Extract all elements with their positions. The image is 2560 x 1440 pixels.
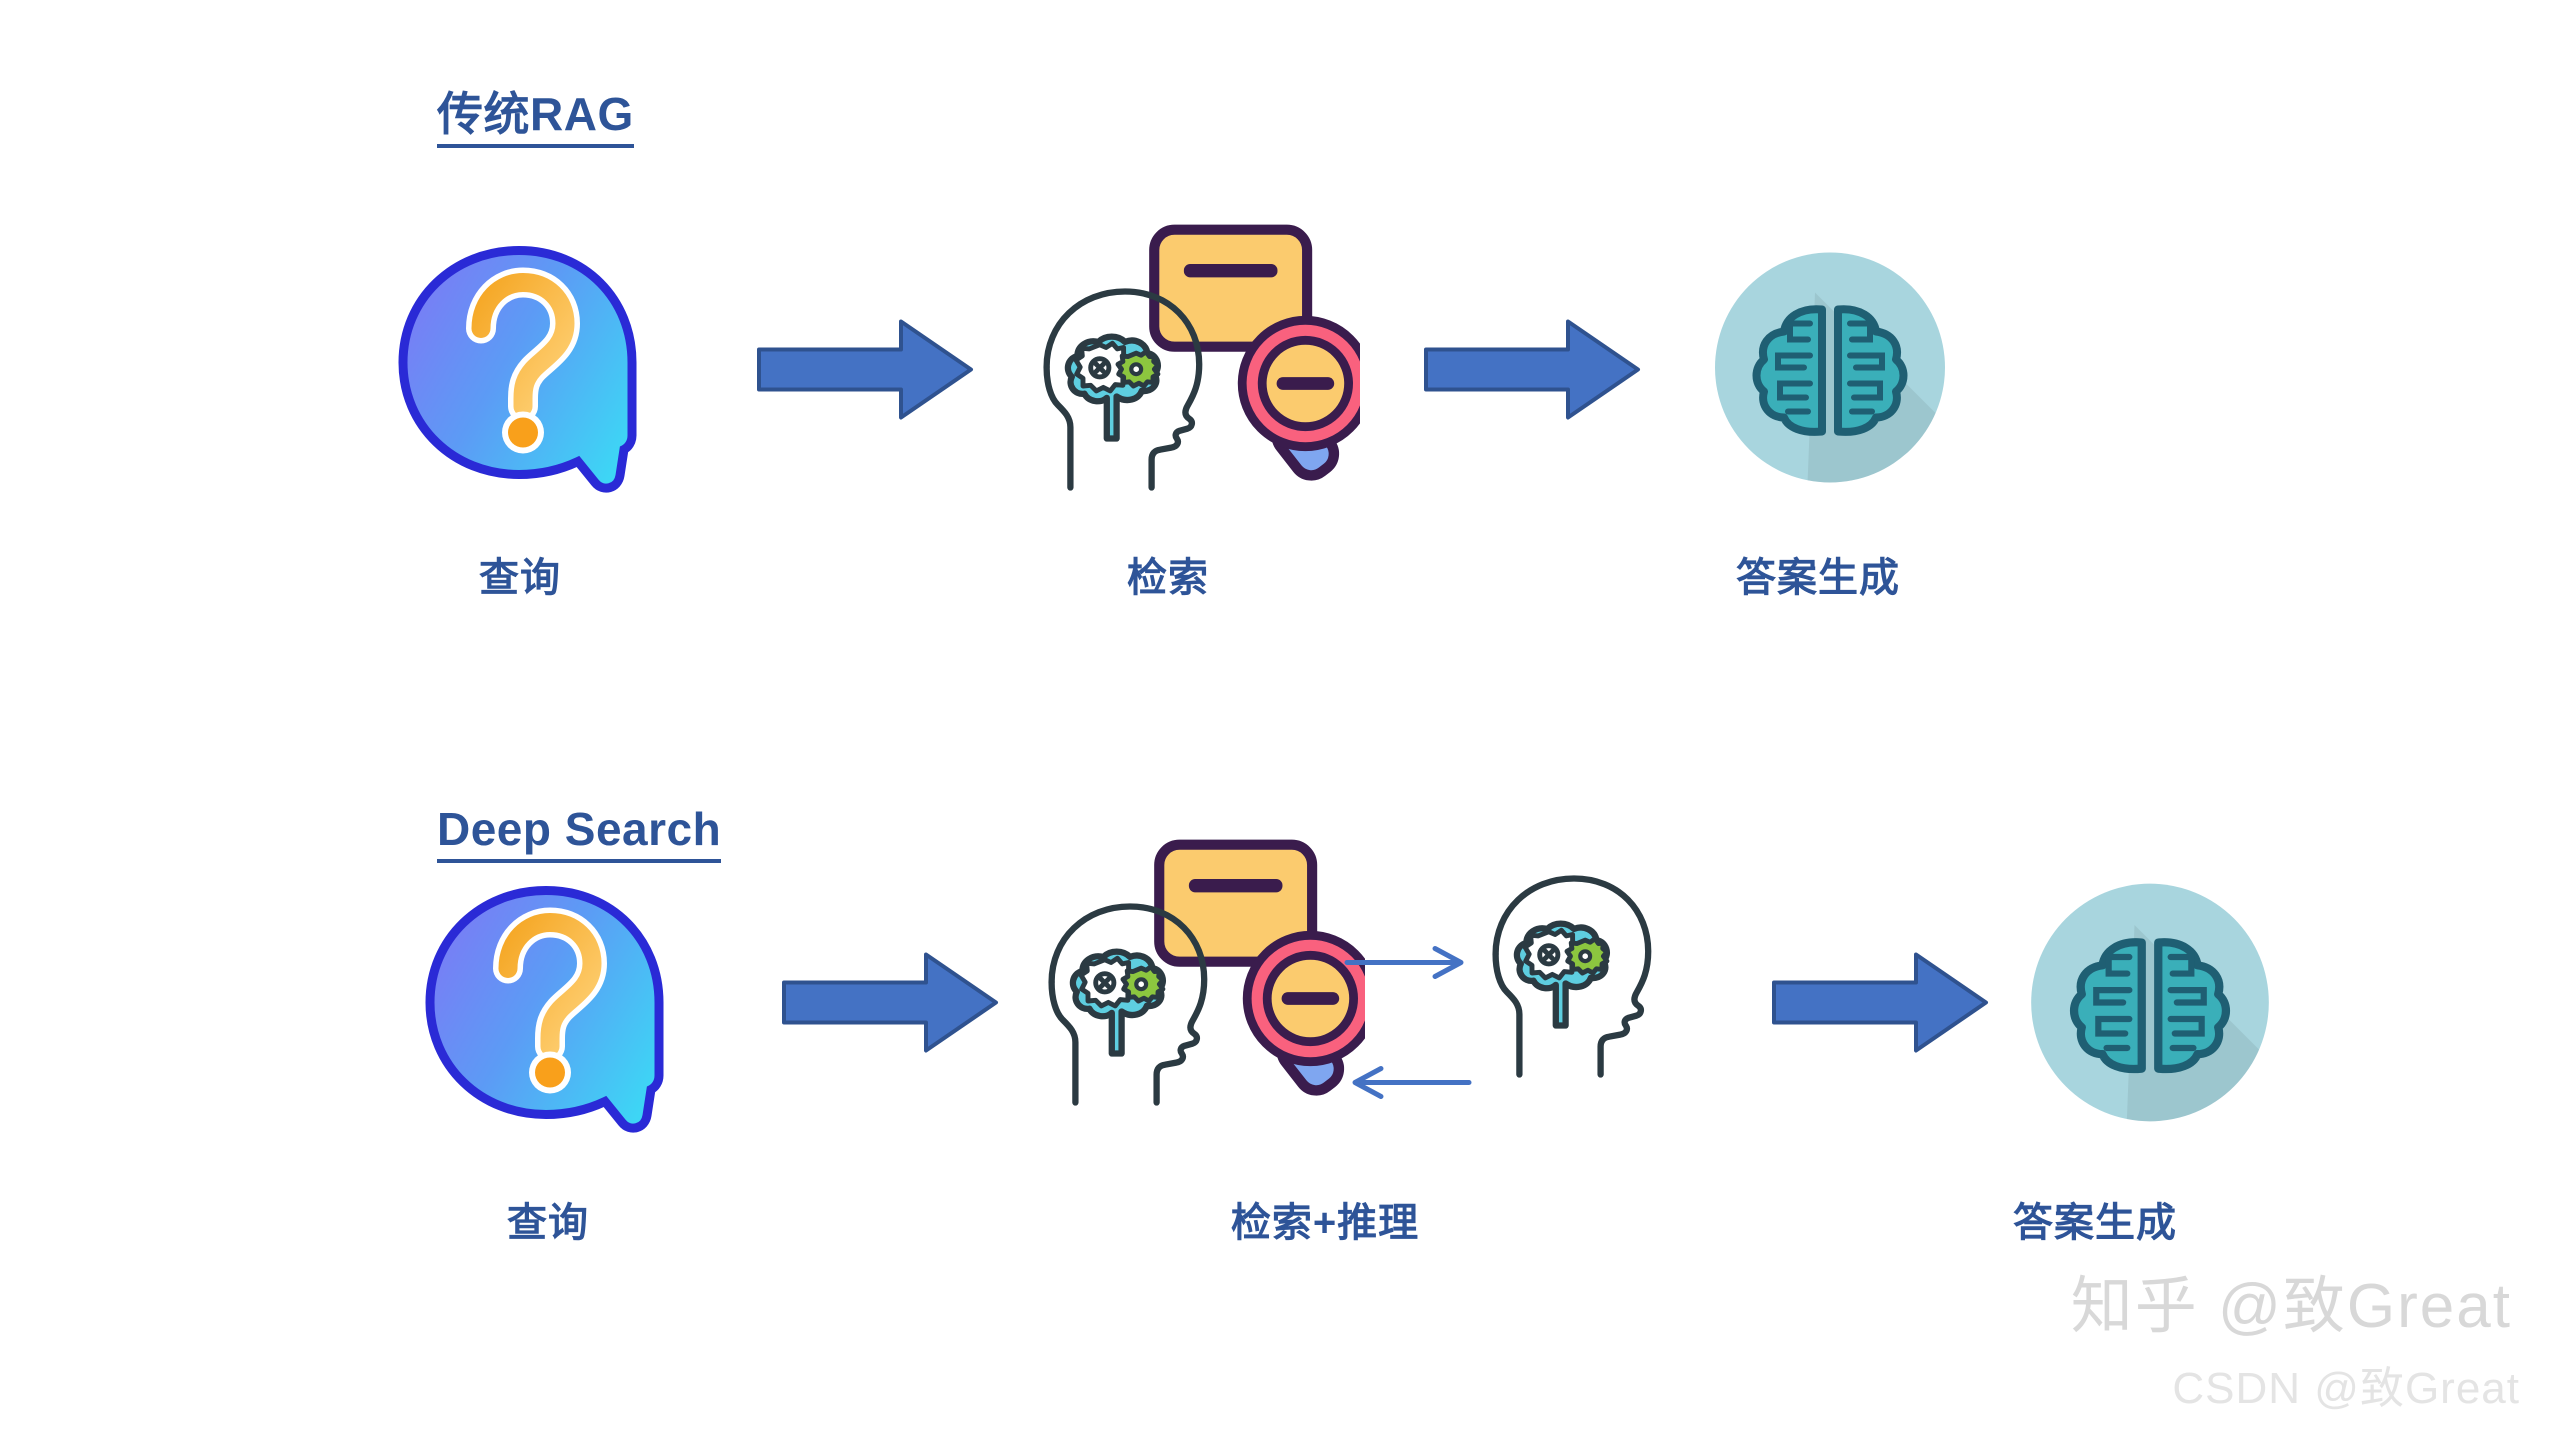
step-caption-answer-row2: 答案生成: [2013, 1190, 2177, 1248]
retrieval-node-row2[interactable]: [1035, 833, 1365, 1168]
retrieval-head-magnifier-icon: [1030, 218, 1360, 548]
flow-arrow-row2-1: [780, 949, 1000, 1062]
step-caption-query-row2: 查询: [507, 1190, 589, 1248]
loop-arrow-forward: [1343, 943, 1473, 988]
reasoning-head-node-row2[interactable]: [1473, 873, 1703, 1128]
answer-brain-node-row2[interactable]: [2026, 879, 2274, 1132]
flow-arrow-row2-2: [1770, 949, 1990, 1062]
watermark-zhihu: 知乎 @致Great: [2071, 1255, 2512, 1345]
step-caption-retrieval-row1: 检索: [1127, 545, 1209, 603]
brain-circle-icon: [1710, 248, 1950, 488]
step-caption-answer-row1: 答案生成: [1736, 545, 1900, 603]
watermark-csdn: CSDN @致Great: [2172, 1352, 2520, 1416]
answer-brain-node-row1[interactable]: [1710, 248, 1950, 493]
step-caption-retrieval-row2: 检索+推理: [1231, 1190, 1419, 1248]
flow-arrow-row1-1: [755, 316, 975, 429]
question-bubble-icon: [416, 877, 674, 1139]
section-title-deep-search: Deep Search: [437, 805, 721, 863]
retrieval-node-row1[interactable]: [1030, 218, 1360, 553]
step-caption-query-row1: 查询: [479, 545, 561, 603]
query-bubble-node-row2[interactable]: [416, 877, 674, 1144]
diagram-canvas: 传统RAG 查询 检索: [0, 0, 2560, 1440]
loop-arrow-backward: [1343, 1063, 1473, 1108]
retrieval-head-magnifier-icon: [1035, 833, 1365, 1163]
section-title-traditional-rag: 传统RAG: [437, 90, 634, 148]
question-bubble-icon: [389, 237, 647, 499]
query-bubble-node-row1[interactable]: [389, 237, 647, 504]
magnifier-icon: [1242, 320, 1360, 482]
thinking-head-icon: [1473, 873, 1703, 1123]
brain-circle-icon: [2026, 879, 2274, 1127]
flow-arrow-row1-2: [1422, 316, 1642, 429]
